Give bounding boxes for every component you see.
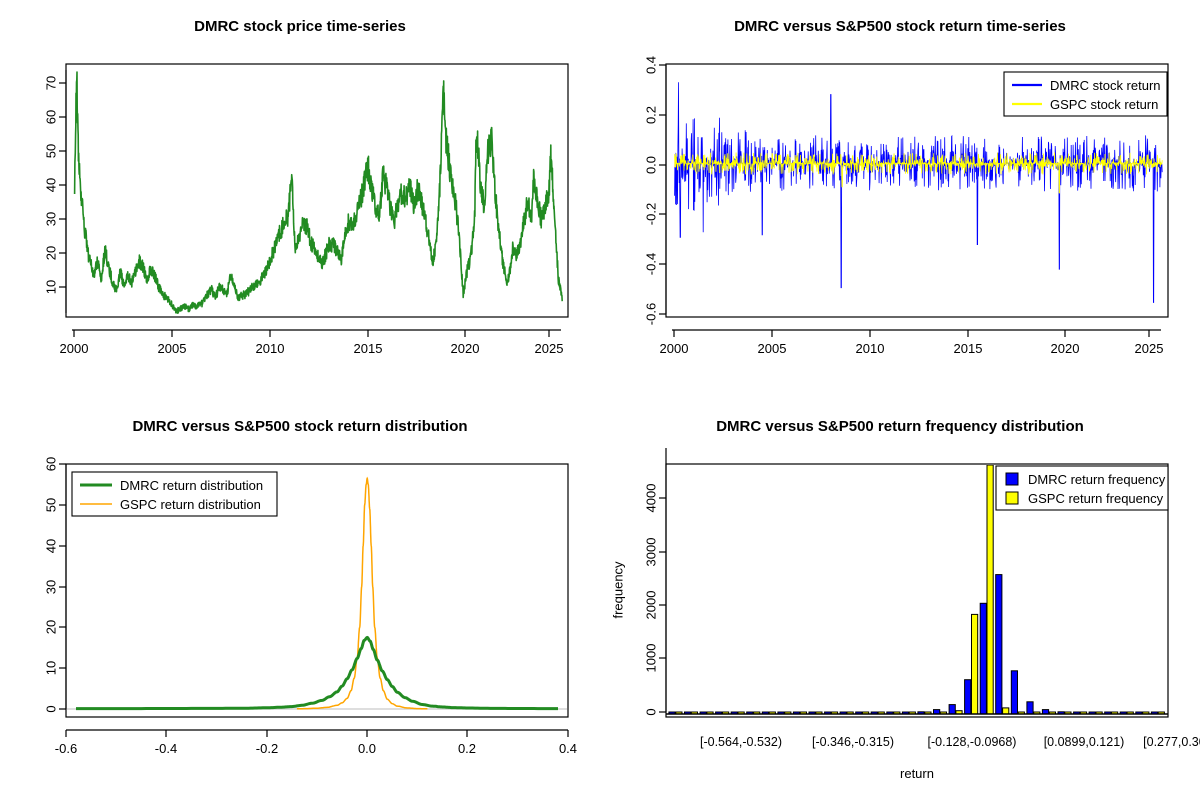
panel-dmrc-gspc-return-timeseries: DMRC versus S&P500 stock return time-ser…	[600, 0, 1200, 400]
panel-dmrc-gspc-return-density: DMRC versus S&P500 stock return distribu…	[0, 400, 600, 800]
y-axis-title-bottomright: frequency	[610, 561, 625, 619]
frequency-bar	[949, 705, 955, 714]
panel-dmrc-gspc-return-frequency: DMRC versus S&P500 return frequency dist…	[600, 400, 1200, 800]
xtick-topright-2015: 2015	[954, 341, 983, 356]
frequency-bar	[980, 603, 986, 714]
xtick-bottomleft-02: 0.2	[458, 741, 476, 756]
x-axis-topright: 2000 2005 2010 2015 2020 2025	[660, 330, 1164, 356]
frequency-bar	[1003, 708, 1009, 714]
ytick-bottomright-2000: 2000	[643, 591, 658, 620]
series-dmrc-price	[75, 72, 563, 313]
ytick-bottomleft-60: 60	[43, 457, 58, 471]
xtick-bottomleft-00: 0.0	[358, 741, 376, 756]
ytick-topright-02: 0.2	[643, 106, 658, 124]
x-axis-topleft: 2000 2005 2010 2015 2020 2025	[60, 330, 564, 356]
x-tick-labels-bottomright: [-0.564,-0.532) [-0.346,-0.315) [-0.128,…	[700, 735, 1200, 749]
xtick-bottomleft-n06: -0.6	[55, 741, 77, 756]
legend-label-dmrc-return: DMRC stock return	[1050, 78, 1161, 93]
frequency-bar	[965, 680, 971, 714]
ytick-topright-00: 0.0	[643, 156, 658, 174]
ytick-topleft-40: 40	[43, 178, 58, 192]
y-axis-topright: -0.6 -0.4 -0.2 0.0 0.2 0.4	[643, 56, 666, 325]
ytick-bottomleft-40: 40	[43, 539, 58, 553]
xtick-topleft-2005: 2005	[158, 341, 187, 356]
ytick-bottomleft-20: 20	[43, 620, 58, 634]
plot-topright: -0.6 -0.4 -0.2 0.0 0.2 0.4 2000 2005 201…	[600, 0, 1200, 400]
ytick-topright-n06: -0.6	[643, 303, 658, 325]
xtick-topright-2010: 2010	[856, 341, 885, 356]
ytick-bottomright-1000: 1000	[643, 644, 658, 673]
ytick-bottomright-4000: 4000	[643, 484, 658, 513]
xtick-topleft-2020: 2020	[451, 341, 480, 356]
legend-label-dmrc-frequency: DMRC return frequency	[1028, 472, 1166, 487]
xtick-bottomright-bin7: [-0.346,-0.315)	[812, 735, 894, 749]
legend-label-dmrc-density: DMRC return distribution	[120, 478, 263, 493]
xtick-topright-2000: 2000	[660, 341, 689, 356]
ytick-topleft-20: 20	[43, 246, 58, 260]
legend-bottomleft: DMRC return distribution GSPC return dis…	[72, 472, 277, 516]
xtick-bottomleft-04: 0.4	[559, 741, 577, 756]
xtick-bottomright-bin14: [-0.128,-0.0968)	[928, 735, 1017, 749]
ytick-topleft-70: 70	[43, 76, 58, 90]
xtick-topleft-2010: 2010	[256, 341, 285, 356]
xtick-topleft-2025: 2025	[535, 341, 564, 356]
ytick-bottomright-0: 0	[643, 708, 658, 715]
panel-dmrc-price-timeseries: DMRC stock price time-series 10 20 30 40…	[0, 0, 600, 400]
ytick-bottomleft-0: 0	[43, 705, 58, 712]
xtick-bottomleft-n02: -0.2	[256, 741, 278, 756]
xtick-topleft-2000: 2000	[60, 341, 89, 356]
xtick-topleft-2015: 2015	[354, 341, 383, 356]
xtick-bottomleft-n04: -0.4	[155, 741, 177, 756]
xtick-bottomright-bin27: [0.277,0.308)	[1143, 735, 1200, 749]
x-axis-title-bottomright: return	[900, 766, 934, 781]
ytick-topleft-10: 10	[43, 280, 58, 294]
frequency-bar	[1027, 702, 1033, 714]
series-dmrc-density	[76, 638, 558, 709]
frequency-bar	[987, 465, 993, 714]
ytick-topright-n04: -0.4	[643, 253, 658, 275]
legend-swatch-gspc-frequency	[1006, 492, 1018, 504]
legend-bottomright: DMRC return frequency GSPC return freque…	[996, 466, 1168, 510]
plot-bottomright: 0 1000 2000 3000 4000 frequency [-0.564,…	[600, 400, 1200, 800]
y-axis-topleft: 10 20 30 40 50 60 70	[43, 70, 66, 313]
ytick-topright-04: 0.4	[643, 56, 658, 74]
legend-label-gspc-frequency: GSPC return frequency	[1028, 491, 1164, 506]
x-axis-bottomleft: -0.6 -0.4 -0.2 0.0 0.2 0.4	[55, 730, 577, 756]
legend-label-gspc-return: GSPC stock return	[1050, 97, 1158, 112]
xtick-topright-2005: 2005	[758, 341, 787, 356]
legend-swatch-dmrc-frequency	[1006, 473, 1018, 485]
ytick-topleft-60: 60	[43, 110, 58, 124]
xtick-topright-2020: 2020	[1051, 341, 1080, 356]
frequency-bar	[1011, 671, 1017, 714]
y-axis-bottomright: 0 1000 2000 3000 4000 frequency	[610, 448, 666, 716]
xtick-bottomright-bin0: [-0.564,-0.532)	[700, 735, 782, 749]
plot-bottomleft: 0 10 20 30 40 50 60 -0.6 -0.4 -0.2 0.0	[0, 400, 600, 800]
ytick-bottomright-3000: 3000	[643, 538, 658, 567]
xtick-bottomright-bin21: [0.0899,0.121)	[1044, 735, 1125, 749]
y-axis-bottomleft: 0 10 20 30 40 50 60	[43, 457, 66, 713]
ytick-bottomleft-50: 50	[43, 498, 58, 512]
xtick-topright-2025: 2025	[1135, 341, 1164, 356]
frequency-bar	[972, 614, 978, 714]
figure-panel-grid: DMRC stock price time-series 10 20 30 40…	[0, 0, 1200, 800]
frequency-bar	[996, 575, 1002, 714]
ytick-bottomleft-30: 30	[43, 580, 58, 594]
ytick-topright-n02: -0.2	[643, 203, 658, 225]
legend-topright: DMRC stock return GSPC stock return	[1004, 72, 1167, 116]
series-gspc-density	[297, 478, 428, 709]
plot-box-topleft	[66, 64, 568, 317]
ytick-topleft-50: 50	[43, 144, 58, 158]
plot-topleft: 10 20 30 40 50 60 70 2000 2005 2010	[0, 0, 600, 400]
ytick-bottomleft-10: 10	[43, 661, 58, 675]
ytick-topleft-30: 30	[43, 212, 58, 226]
legend-label-gspc-density: GSPC return distribution	[120, 497, 261, 512]
